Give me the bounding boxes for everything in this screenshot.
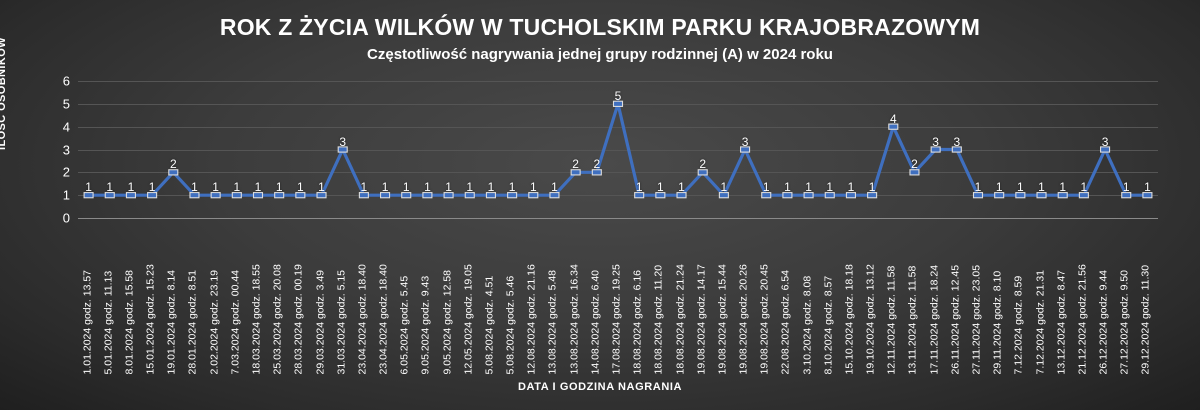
data-label: 1 — [233, 181, 240, 193]
data-label: 1 — [466, 181, 473, 193]
y-axis-title: ILOŚĆ OSOBNIKÓW — [0, 37, 8, 150]
data-label: 1 — [382, 181, 389, 193]
x-tick-label: 5.08.2024 godz. 4.51 — [484, 275, 495, 374]
y-tick-0: 0 — [40, 212, 70, 225]
x-tick-label: 13.11.2024 godz. 11.58 — [908, 265, 919, 374]
data-label: 1 — [318, 181, 325, 193]
x-axis-title: DATA I GODZINA NAGRANIA — [0, 381, 1200, 393]
x-tick-label: 13.08.2024 godz. 16.34 — [569, 264, 580, 374]
data-label: 2 — [593, 158, 600, 170]
data-label: 2 — [170, 158, 177, 170]
x-tick-label: 28.03.2024 godz. 00.19 — [294, 264, 305, 374]
x-tick-label: 9.05.2024 godz. 9.43 — [421, 275, 432, 374]
x-tick-label: 23.04.2024 godz. 18.40 — [357, 264, 368, 374]
x-tick-label: 12.05.2024 godz. 19.05 — [463, 264, 474, 374]
x-tick-label: 8.01.2024 godz. 15.58 — [124, 269, 135, 374]
data-label: 1 — [403, 181, 410, 193]
data-label: 1 — [975, 181, 982, 193]
data-label: 3 — [742, 136, 749, 148]
data-label: 5 — [615, 90, 622, 102]
plot-area: 1111211111113111111111122511121311111142… — [78, 81, 1158, 218]
x-tick-label: 19.08.2024 godz. 14.17 — [696, 264, 707, 374]
x-tick-label: 18.08.2024 godz. 11.20 — [654, 264, 665, 374]
x-tick-label: 15.01.2024 godz. 15.23 — [146, 264, 157, 374]
data-label: 1 — [297, 181, 304, 193]
data-label: 1 — [488, 181, 495, 193]
x-tick-label: 22.08.2024 godz. 6.54 — [781, 269, 792, 374]
data-label: 2 — [911, 158, 918, 170]
x-tick-label: 19.08.2024 godz. 15.44 — [717, 264, 728, 374]
data-label: 1 — [636, 181, 643, 193]
data-label: 1 — [721, 181, 728, 193]
x-tick-label: 25.03.2024 godz. 20.08 — [273, 264, 284, 374]
data-label: 1 — [276, 181, 283, 193]
x-tick-label: 27.11.2024 godz. 23.05 — [972, 264, 983, 374]
data-label: 1 — [509, 181, 516, 193]
data-label: 1 — [763, 181, 770, 193]
data-label: 1 — [1144, 181, 1151, 193]
chart-title: ROK Z ŻYCIA WILKÓW W TUCHOLSKIM PARKU KR… — [0, 14, 1200, 41]
data-label: 3 — [1102, 136, 1109, 148]
data-label: 1 — [445, 181, 452, 193]
data-label: 4 — [890, 113, 897, 125]
data-label: 1 — [1123, 181, 1130, 193]
x-tick-label: 29.12.2024 godz. 11.30 — [1141, 264, 1152, 374]
data-label: 1 — [1059, 181, 1066, 193]
x-tick-label: 27.12.2024 godz. 9.50 — [1120, 269, 1131, 374]
x-tick-label: 3.10.2024 godz. 8.08 — [802, 275, 813, 374]
data-label: 1 — [1081, 181, 1088, 193]
data-label: 1 — [361, 181, 368, 193]
x-tick-label: 9.05.2024 godz. 12.58 — [442, 269, 453, 374]
x-axis-tick-labels: 1.01.2024 godz. 13.575.01.2024 godz. 11.… — [78, 224, 1158, 374]
x-tick-label: 26.11.2024 godz. 12.45 — [950, 264, 961, 374]
x-tick-label: 19.01.2024 godz. 8.14 — [167, 269, 178, 374]
x-tick-label: 5.01.2024 godz. 11.13 — [103, 270, 114, 374]
x-tick-label: 19.10.2024 godz. 13.12 — [866, 264, 877, 374]
x-tick-label: 2.02.2024 godz. 23.19 — [209, 269, 220, 374]
x-tick-label: 26.12.2024 godz. 9.44 — [1099, 269, 1110, 374]
data-label: 2 — [572, 158, 579, 170]
data-label: 1 — [996, 181, 1003, 193]
data-label: 1 — [805, 181, 812, 193]
data-label: 3 — [932, 136, 939, 148]
x-tick-label: 6.05.2024 godz. 5.45 — [400, 275, 411, 374]
data-label: 1 — [848, 181, 855, 193]
x-tick-label: 17.08.2024 godz. 19.25 — [612, 264, 623, 374]
y-tick-4: 4 — [40, 120, 70, 133]
data-label: 1 — [106, 181, 113, 193]
data-label: 1 — [191, 181, 198, 193]
y-axis-tick-labels: 0123456 — [40, 81, 70, 218]
x-tick-label: 8.10.2024 godz. 8.57 — [823, 275, 834, 374]
x-tick-label: 1.01.2024 godz. 13.57 — [82, 269, 93, 374]
data-label: 1 — [1038, 181, 1045, 193]
x-tick-label: 7.03.2024 godz. 00.44 — [230, 269, 241, 374]
x-tick-label: 13.08.2024 godz. 5.48 — [548, 269, 559, 374]
data-label: 1 — [530, 181, 537, 193]
x-tick-label: 18.08.2024 godz. 6.16 — [633, 269, 644, 374]
x-tick-label: 31.03.2024 godz. 5.15 — [336, 269, 347, 374]
data-label: 1 — [85, 181, 92, 193]
data-label: 1 — [212, 181, 219, 193]
data-label: 1 — [784, 181, 791, 193]
y-tick-5: 5 — [40, 97, 70, 110]
data-label: 1 — [128, 181, 135, 193]
x-tick-label: 12.08.2024 godz. 21.16 — [527, 264, 538, 374]
x-tick-label: 12.11.2024 godz. 11.58 — [887, 265, 898, 374]
data-label: 3 — [339, 136, 346, 148]
data-label: 1 — [551, 181, 558, 193]
data-label: 1 — [678, 181, 685, 193]
data-label: 1 — [255, 181, 262, 193]
x-tick-label: 15.10.2024 godz. 18.18 — [844, 264, 855, 374]
data-label: 1 — [869, 181, 876, 193]
y-tick-2: 2 — [40, 166, 70, 179]
x-tick-label: 28.01.2024 godz. 8.51 — [188, 269, 199, 374]
x-tick-label: 7.12.2024 godz. 8.59 — [1014, 275, 1025, 374]
data-label: 1 — [149, 181, 156, 193]
gridline-0 — [78, 218, 1158, 219]
data-label: 1 — [826, 181, 833, 193]
x-tick-label: 19.08.2024 godz. 20.26 — [739, 264, 750, 374]
x-tick-label: 21.12.2024 godz. 21.56 — [1077, 264, 1088, 374]
x-tick-label: 18.03.2024 godz. 18.55 — [252, 264, 263, 374]
x-tick-label: 7.12.2024 godz. 21.31 — [1035, 269, 1046, 374]
data-label: 1 — [1017, 181, 1024, 193]
y-tick-1: 1 — [40, 189, 70, 202]
y-tick-6: 6 — [40, 75, 70, 88]
x-tick-label: 23.04.2024 godz. 18.40 — [379, 264, 390, 374]
data-label: 1 — [424, 181, 431, 193]
x-tick-label: 29.11.2024 godz. 8.10 — [993, 270, 1004, 374]
chart-container: ROK Z ŻYCIA WILKÓW W TUCHOLSKIM PARKU KR… — [0, 0, 1200, 410]
data-label: 1 — [657, 181, 664, 193]
x-tick-label: 14.08.2024 godz. 6.40 — [590, 269, 601, 374]
data-label: 3 — [953, 136, 960, 148]
chart-subtitle: Częstotliwość nagrywania jednej grupy ro… — [0, 46, 1200, 63]
y-tick-3: 3 — [40, 143, 70, 156]
data-label: 2 — [699, 158, 706, 170]
x-tick-label: 18.08.2024 godz. 21.24 — [675, 264, 686, 374]
x-tick-label: 17.11.2024 godz. 18.24 — [929, 264, 940, 374]
x-tick-label: 13.12.2024 godz. 8.47 — [1056, 269, 1067, 374]
x-tick-label: 29.03.2024 godz. 3.49 — [315, 269, 326, 374]
x-tick-label: 5.08.2024 godz. 5.46 — [506, 275, 517, 374]
x-tick-label: 19.08.2024 godz. 20.45 — [760, 264, 771, 374]
